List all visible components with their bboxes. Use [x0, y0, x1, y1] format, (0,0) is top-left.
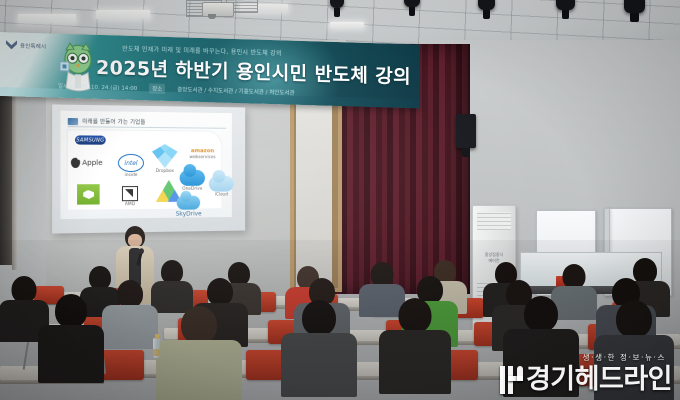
person-head	[302, 300, 336, 336]
projection-screen: 미래를 만들어 가는 기업들 SAMSUNG Apple intel insid…	[52, 104, 245, 233]
amazon-logo: amazon webservices	[189, 148, 215, 159]
person-head	[117, 280, 143, 308]
banner-sub-place-tag: 장소	[149, 83, 165, 93]
audience-person	[598, 300, 670, 398]
icloud-logo: iCloud	[209, 176, 234, 197]
city-emblem: 용인특례시	[6, 40, 46, 50]
person-body	[156, 340, 242, 400]
onedrive-logo-mark	[180, 170, 205, 186]
stage-light	[556, 0, 575, 10]
person-head	[524, 296, 558, 332]
person-head	[399, 298, 432, 333]
ceiling-light	[18, 14, 76, 23]
audience-area	[0, 250, 680, 400]
person-body	[281, 333, 357, 397]
lecture-hall-photo: 용인특례시 반도체 인재가 미래 및 미래를 바꾸는다, 용인시 반도체 강의 …	[0, 0, 680, 400]
dropbox-logo-mark	[152, 144, 178, 168]
audience-person	[160, 306, 238, 400]
city-emblem-label: 용인특례시	[20, 41, 46, 50]
slide-header: 미래를 만들어 가는 기업들	[68, 116, 226, 129]
skydrive-logo-mark	[177, 196, 200, 210]
audience-person	[40, 294, 102, 380]
audience-person	[284, 300, 354, 392]
person-body	[38, 325, 104, 383]
person-body	[379, 330, 451, 394]
person-head	[12, 276, 37, 303]
ac-grille	[477, 212, 511, 230]
amd-logo: AMD	[122, 186, 138, 207]
person-body	[102, 305, 158, 349]
person-head	[55, 294, 87, 328]
samsung-logo: SAMSUNG	[75, 135, 106, 144]
slide-header-text: 미래를 만들어 가는 기업들	[82, 117, 145, 126]
stage-light	[478, 0, 495, 10]
skydrive-logo: SkyDrive	[176, 196, 202, 218]
slide-bullet-icon	[68, 117, 78, 124]
person-body	[594, 335, 674, 400]
audience-person	[152, 260, 192, 308]
intel-logo-mark: intel	[118, 154, 144, 172]
apple-logo: Apple	[71, 158, 103, 168]
samsung-logo-mark: SAMSUNG	[75, 135, 106, 144]
icloud-logo-caption: iCloud	[215, 192, 228, 197]
city-emblem-icon	[6, 40, 17, 49]
dropbox-logo-caption: Dropbox	[156, 169, 174, 174]
nvidia-logo-mark	[77, 184, 100, 204]
intel-logo: intel inside	[118, 154, 144, 178]
person-head	[616, 300, 652, 338]
apple-logo-label: Apple	[82, 159, 102, 167]
projection-screen-surface: 미래를 만들어 가는 기업들 SAMSUNG Apple intel insid…	[60, 111, 231, 219]
ceiling-light	[330, 22, 364, 28]
wall-speaker	[456, 114, 476, 148]
nvidia-eye-icon	[83, 190, 94, 199]
icloud-logo-mark	[209, 176, 234, 192]
person-head	[181, 306, 217, 344]
nvidia-logo	[77, 184, 100, 204]
skydrive-logo-caption: SkyDrive	[176, 210, 202, 217]
person-body	[503, 329, 579, 397]
slide-body: SAMSUNG Apple intel inside Dropbox amazo…	[67, 129, 223, 211]
amazon-logo-caption: webservices	[189, 155, 215, 160]
person-head	[207, 278, 233, 306]
audience-person	[382, 298, 448, 390]
water-bottle	[153, 338, 160, 358]
stage-light	[624, 0, 645, 13]
amazon-logo-mark: amazon	[191, 148, 214, 154]
onedrive-logo: OneDrive	[180, 170, 205, 191]
banner-sub-datetime: 일시 | 2025. 10. 24.(금) 14:00	[58, 82, 137, 92]
ceiling-projector	[202, 2, 234, 17]
amd-logo-caption: AMD	[125, 202, 135, 207]
audience-person	[104, 280, 156, 344]
dropbox-logo: Dropbox	[152, 144, 178, 173]
event-banner: 용인특례시 반도체 인재가 미래 및 미래를 바꾸는다, 용인시 반도체 강의 …	[0, 32, 420, 108]
intel-logo-caption: inside	[124, 173, 137, 178]
apple-logo-mark	[71, 158, 80, 168]
ceiling-light	[96, 10, 150, 19]
audience-person	[506, 296, 576, 392]
amd-logo-mark	[122, 186, 138, 201]
